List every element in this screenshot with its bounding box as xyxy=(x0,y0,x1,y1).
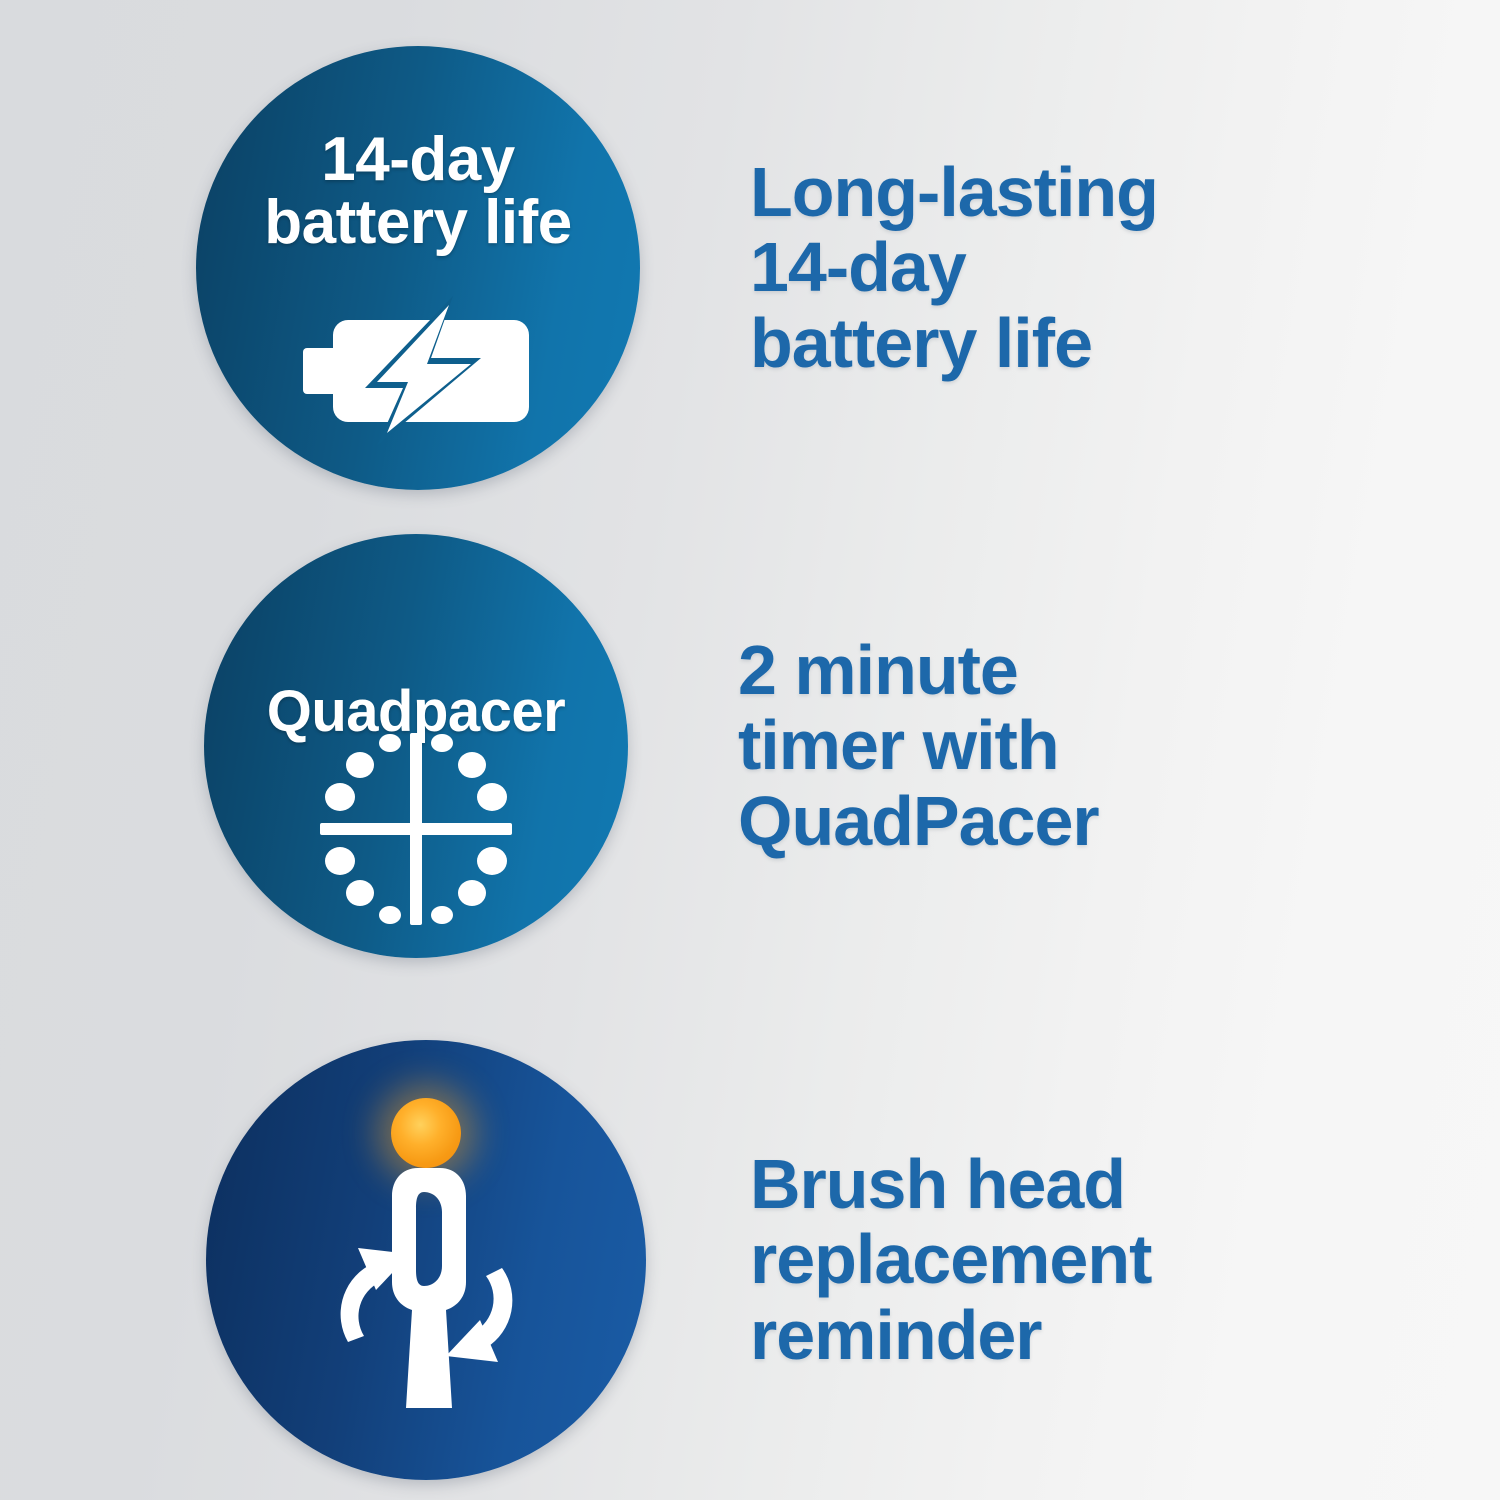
reminder-indicator-light xyxy=(391,1098,461,1168)
badge-battery-life: 14-day battery life xyxy=(196,46,640,490)
feature-row-battery: 14-day battery life Long-lasting 14-day … xyxy=(0,46,1500,490)
badge-quadpacer: Quadpacer xyxy=(204,534,628,958)
feature-row-quadpacer: Quadpacer xyxy=(0,534,1500,958)
feature-headline-battery: Long-lasting 14-day battery life xyxy=(640,155,1500,382)
quadpacer-timer-icon xyxy=(316,729,516,934)
feature-headline-brushhead: Brush head replacement reminder xyxy=(646,1147,1500,1374)
feature-row-brushhead: Brush head replacement reminder xyxy=(0,1040,1500,1480)
badge-brush-head-reminder xyxy=(206,1040,646,1480)
feature-infographic: 14-day battery life Long-lasting 14-day … xyxy=(0,0,1500,1500)
brush-head-replacement-icon xyxy=(306,1162,546,1427)
battery-charging-icon xyxy=(303,296,533,451)
feature-headline-quadpacer: 2 minute timer with QuadPacer xyxy=(628,633,1500,860)
badge-battery-caption: 14-day battery life xyxy=(196,128,640,254)
